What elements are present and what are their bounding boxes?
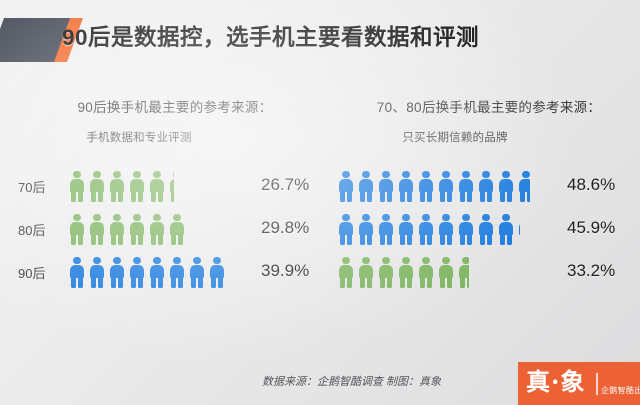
person-icon [376,256,396,288]
person-icon [456,256,469,288]
person-icon [436,213,456,245]
person-icon [207,256,227,288]
person-icon [396,213,416,245]
person-icon [456,170,476,202]
row-value: 45.9% [567,218,615,238]
pictogram-bar [336,170,530,202]
brand-logo-mark: 真·象 [526,367,585,397]
header: 90后是数据控，选手机主要看数据和评测 [0,16,640,64]
row-value: 33.2% [567,261,615,281]
person-icon [147,256,167,288]
person-icon [87,213,107,245]
row-value: 26.7% [261,175,309,195]
person-icon [356,213,376,245]
person-icon [516,213,520,245]
person-icon [436,170,456,202]
left-pictogram-chart: 70后26.7%80后29.8%90后39.9% [18,168,324,297]
row-value: 48.6% [567,175,615,195]
chart-row: 90后39.9% [18,254,324,297]
infographic-canvas: 90后是数据控，选手机主要看数据和评测 90后换手机最主要的参考来源： 手机数据… [0,0,640,405]
pictogram-bar [67,256,227,288]
person-icon [147,170,167,202]
person-icon [167,213,186,245]
person-icon [127,170,147,202]
person-icon [336,213,356,245]
person-icon [107,213,127,245]
person-icon [167,170,174,202]
person-icon [396,170,416,202]
person-icon [416,213,436,245]
person-icon [167,256,187,288]
page-title: 90后是数据控，选手机主要看数据和评测 [62,20,479,52]
person-icon [336,256,356,288]
person-icon [336,170,356,202]
person-icon [476,170,496,202]
person-icon [496,170,516,202]
person-icon [87,170,107,202]
pictogram-bar [67,213,186,245]
source-note: 数据来源：企鹅智酷调查 制图：真象 [262,373,441,389]
chart-row: 33.2% [336,254,640,297]
chart-row: 48.6% [336,168,640,211]
right-column-heading-group: 70、80后换手机最主要的参考来源： 只买长期信赖的品牌 [338,96,638,145]
right-pictogram-chart: 48.6%45.9%33.2% [336,168,640,297]
person-icon [67,170,87,202]
brand-logo-subtitle: 企鹅智酷出品 [601,385,640,396]
person-icon [107,256,127,288]
person-icon [356,256,376,288]
right-column-subheading: 只买长期信赖的品牌 [338,129,638,145]
person-icon [87,256,107,288]
logo-divider [596,373,598,395]
person-icon [496,213,516,245]
brand-logo: 真·象 企鹅智酷出品 [518,362,640,405]
left-column-subheading: 手机数据和专业评测 [22,129,322,145]
chart-row: 45.9% [336,211,640,254]
row-label: 70后 [18,177,62,196]
pictogram-bar [336,256,469,288]
row-label: 90后 [18,263,62,282]
person-icon [376,170,396,202]
person-icon [67,256,87,288]
person-icon [67,213,87,245]
person-icon [147,213,167,245]
person-icon [456,213,476,245]
chart-row: 70后26.7% [18,168,324,211]
chart-row: 80后29.8% [18,211,324,254]
pictogram-bar [336,213,520,245]
person-icon [356,170,376,202]
person-icon [436,256,456,288]
person-icon [476,213,496,245]
person-icon [127,256,147,288]
row-label: 80后 [18,220,62,239]
row-value: 29.8% [261,218,309,238]
person-icon [187,256,207,288]
right-column-heading: 70、80后换手机最主要的参考来源： [338,96,638,116]
left-column-heading-group: 90后换手机最主要的参考来源： 手机数据和专业评测 [22,96,322,145]
person-icon [107,170,127,202]
person-icon [396,256,416,288]
person-icon [416,170,436,202]
pictogram-bar [67,170,174,202]
person-icon [516,170,530,202]
left-column-heading: 90后换手机最主要的参考来源： [22,96,322,116]
row-value: 39.9% [261,261,309,281]
person-icon [127,213,147,245]
person-icon [416,256,436,288]
person-icon [376,213,396,245]
